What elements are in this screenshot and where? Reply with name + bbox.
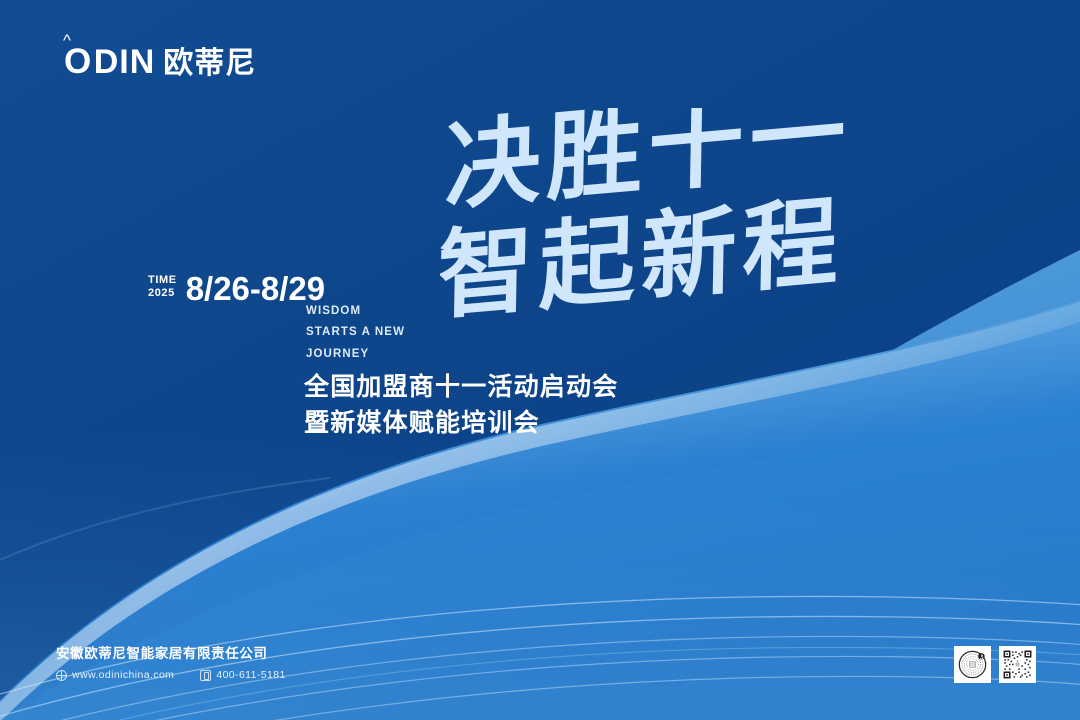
logo-chinese-name: 欧蒂尼 bbox=[163, 49, 256, 79]
circumflex-accent-icon: ^ bbox=[63, 32, 71, 49]
event-poster: ^ O DIN 欧蒂尼 决胜十一 智起新程 TIME 2025 8/26-8/2… bbox=[0, 0, 1080, 720]
subtitle-line-1: 全国加盟商十一活动启动会 bbox=[304, 370, 618, 406]
phone-contact[interactable]: 400-611-5181 bbox=[200, 669, 285, 681]
headline-calligraphy: 决胜十一 智起新程 bbox=[440, 108, 910, 338]
logo-o-mark: ^ O bbox=[64, 44, 92, 79]
event-subtitle: 全国加盟商十一活动启动会 暨新媒体赋能培训会 bbox=[304, 370, 618, 441]
brand-logo: ^ O DIN 欧蒂尼 bbox=[64, 44, 256, 79]
subtitle-line-2: 暨新媒体赋能培训会 bbox=[304, 406, 618, 442]
qr-code-group bbox=[954, 646, 1036, 683]
footer-block: 安徽欧蒂尼智能家居有限责任公司 www.odinichina.com 400-6… bbox=[56, 646, 286, 681]
tagline-line-1: WISDOM bbox=[306, 301, 405, 322]
douyin-round-code[interactable] bbox=[954, 646, 991, 683]
wechat-square-code[interactable] bbox=[999, 646, 1036, 683]
globe-icon bbox=[56, 670, 67, 681]
date-label-time: TIME bbox=[148, 274, 177, 287]
english-tagline: WISDOM STARTS A NEW JOURNEY bbox=[306, 301, 405, 365]
date-label-year: 2025 bbox=[148, 287, 177, 300]
website-url: www.odinichina.com bbox=[72, 669, 174, 681]
date-range: 8/26-8/29 bbox=[186, 272, 325, 305]
date-label: TIME 2025 bbox=[148, 274, 177, 303]
logo-wordmark: DIN bbox=[94, 45, 156, 79]
website-contact[interactable]: www.odinichina.com bbox=[56, 669, 174, 681]
tagline-line-2: STARTS A NEW bbox=[306, 322, 405, 343]
company-name: 安徽欧蒂尼智能家居有限责任公司 bbox=[56, 646, 286, 662]
contact-row: www.odinichina.com 400-611-5181 bbox=[56, 669, 286, 681]
tagline-line-3: JOURNEY bbox=[306, 344, 405, 365]
phone-icon bbox=[200, 670, 211, 681]
phone-number: 400-611-5181 bbox=[216, 669, 285, 681]
event-date-block: TIME 2025 8/26-8/29 bbox=[148, 272, 325, 305]
